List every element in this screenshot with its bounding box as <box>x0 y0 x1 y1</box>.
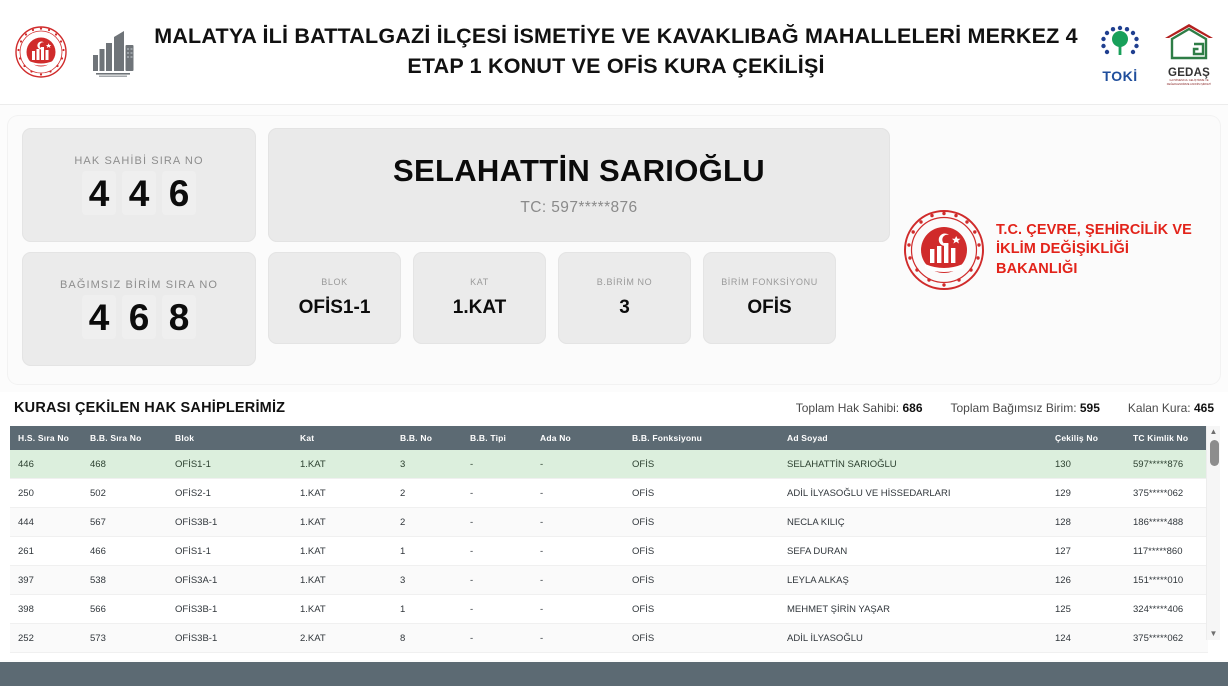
blok-label: BLOK <box>321 277 347 287</box>
cell-bb-fonksiyonu: OFİS <box>624 450 779 479</box>
cell-cekilis-no: 124 <box>1047 624 1125 653</box>
cell-tc-kimlik-no: 117*****860 <box>1125 537 1208 566</box>
cell-bb-tipi: - <box>462 450 532 479</box>
ministry-text-line1: T.C. ÇEVRE, ŞEHİRCİLİK VE <box>996 221 1214 240</box>
results-table-wrap: H.S. Sıra No B.B. Sıra No Blok Kat B.B. … <box>10 426 1218 653</box>
cell-bb-sira-no: 566 <box>82 595 167 624</box>
cell-kat: 1.KAT <box>292 450 392 479</box>
gedas-logo-icon: GEDAŞ GAYRİMENKUL GELİŞTİRME VE DEĞERLEN… <box>1160 22 1218 82</box>
col-ad-soyad[interactable]: Ad Soyad <box>779 426 1047 450</box>
cell-bb-no: 2 <box>392 508 462 537</box>
cell-ad-soyad: SELAHATTİN SARIOĞLU <box>779 450 1047 479</box>
cell-bb-no: 3 <box>392 566 462 595</box>
page-title: MALATYA İLİ BATTALGAZİ İLÇESİ İSMETİYE V… <box>138 22 1094 81</box>
cell-ad-soyad: MEHMET ŞİRİN YAŞAR <box>779 595 1047 624</box>
hak-sahibi-sira-no-card: HAK SAHİBİ SIRA NO 4 4 6 <box>22 128 256 242</box>
stat-kalan-kura: Kalan Kura: 465 <box>1128 401 1214 415</box>
digit: 4 <box>82 295 116 339</box>
cell-ada-no: - <box>532 624 624 653</box>
cell-ad-soyad: LEYLA ALKAŞ <box>779 566 1047 595</box>
cell-bb-sira-no: 538 <box>82 566 167 595</box>
cell-blok: OFİS2-1 <box>167 479 292 508</box>
blok-card: BLOK OFİS1-1 <box>268 252 401 344</box>
scroll-down-icon[interactable]: ▼ <box>1210 630 1218 638</box>
cell-ada-no: - <box>532 537 624 566</box>
stat-label: Toplam Bağımsız Birim: <box>951 401 1077 415</box>
cell-bb-tipi: - <box>462 566 532 595</box>
kentsel-donusum-logo-icon <box>90 25 138 79</box>
cell-hs-sira-no: 446 <box>10 450 82 479</box>
scrollbar-thumb[interactable] <box>1210 440 1219 466</box>
table-row[interactable]: 398566OFİS3B-11.KAT1--OFİSMEHMET ŞİRİN Y… <box>10 595 1208 624</box>
cell-bb-sira-no: 573 <box>82 624 167 653</box>
winner-left-column: HAK SAHİBİ SIRA NO 4 4 6 BAĞIMSIZ BİRİM … <box>8 116 256 384</box>
cell-ada-no: - <box>532 566 624 595</box>
cell-bb-tipi: - <box>462 508 532 537</box>
cell-cekilis-no: 128 <box>1047 508 1125 537</box>
digit: 6 <box>122 295 156 339</box>
results-section: KURASI ÇEKİLEN HAK SAHİPLERİMİZ Toplam H… <box>0 392 1228 660</box>
col-bb-fonksiyonu[interactable]: B.B. Fonksiyonu <box>624 426 779 450</box>
table-scrollbar[interactable]: ▲ ▼ <box>1206 426 1220 640</box>
cell-hs-sira-no: 444 <box>10 508 82 537</box>
cell-ada-no: - <box>532 450 624 479</box>
bbirim-no-card: B.BİRİM NO 3 <box>558 252 691 344</box>
cell-bb-tipi: - <box>462 595 532 624</box>
cell-kat: 1.KAT <box>292 479 392 508</box>
cell-hs-sira-no: 398 <box>10 595 82 624</box>
stat-toplam-hak-sahibi: Toplam Hak Sahibi: 686 <box>796 401 923 415</box>
birim-fonksiyonu-label: BİRİM FONKSİYONU <box>721 277 818 287</box>
stat-value: 686 <box>902 401 922 415</box>
stat-label: Kalan Kura: <box>1128 401 1191 415</box>
cell-tc-kimlik-no: 375*****062 <box>1125 624 1208 653</box>
digit: 4 <box>82 171 116 215</box>
cell-ad-soyad: NECLA KILIÇ <box>779 508 1047 537</box>
cell-kat: 1.KAT <box>292 595 392 624</box>
table-row[interactable]: 252573OFİS3B-12.KAT8--OFİSADİL İLYASOĞLU… <box>10 624 1208 653</box>
cell-ad-soyad: SEFA DURAN <box>779 537 1047 566</box>
cell-ada-no: - <box>532 508 624 537</box>
cell-cekilis-no: 129 <box>1047 479 1125 508</box>
stat-toplam-bagimsiz-birim: Toplam Bağımsız Birim: 595 <box>951 401 1100 415</box>
cell-ad-soyad: ADİL İLYASOĞLU <box>779 624 1047 653</box>
hak-sahibi-sira-no-label: HAK SAHİBİ SIRA NO <box>74 155 203 167</box>
col-ada-no[interactable]: Ada No <box>532 426 624 450</box>
col-kat[interactable]: Kat <box>292 426 392 450</box>
winner-panel: HAK SAHİBİ SIRA NO 4 4 6 BAĞIMSIZ BİRİM … <box>8 116 1220 384</box>
cell-bb-fonksiyonu: OFİS <box>624 595 779 624</box>
header-left-logos <box>0 25 138 79</box>
cell-hs-sira-no: 397 <box>10 566 82 595</box>
cell-tc-kimlik-no: 597*****876 <box>1125 450 1208 479</box>
table-row[interactable]: 444567OFİS3B-11.KAT2--OFİSNECLA KILIÇ128… <box>10 508 1208 537</box>
hak-sahibi-sira-no-digits: 4 4 6 <box>82 171 196 215</box>
col-bb-tipi[interactable]: B.B. Tipi <box>462 426 532 450</box>
cell-hs-sira-no: 261 <box>10 537 82 566</box>
table-row[interactable]: 250502OFİS2-11.KAT2--OFİSADİL İLYASOĞLU … <box>10 479 1208 508</box>
cell-tc-kimlik-no: 151*****010 <box>1125 566 1208 595</box>
stat-value: 595 <box>1080 401 1100 415</box>
results-header: KURASI ÇEKİLEN HAK SAHİPLERİMİZ Toplam H… <box>0 392 1228 426</box>
cell-bb-sira-no: 502 <box>82 479 167 508</box>
cell-kat: 1.KAT <box>292 508 392 537</box>
cell-bb-tipi: - <box>462 537 532 566</box>
cell-cekilis-no: 130 <box>1047 450 1125 479</box>
cell-cekilis-no: 127 <box>1047 537 1125 566</box>
gedas-subtitle: GAYRİMENKUL GELİŞTİRME VE DEĞERLENDİRME … <box>1160 79 1218 87</box>
col-bb-no[interactable]: B.B. No <box>392 426 462 450</box>
cell-tc-kimlik-no: 375*****062 <box>1125 479 1208 508</box>
table-row[interactable]: 446468OFİS1-11.KAT3--OFİSSELAHATTİN SARI… <box>10 450 1208 479</box>
kat-label: KAT <box>470 277 489 287</box>
digit: 8 <box>162 295 196 339</box>
cell-kat: 1.KAT <box>292 537 392 566</box>
ministry-branding: T.C. ÇEVRE, ŞEHİRCİLİK VE İKLİM DEĞİŞİKL… <box>902 116 1220 384</box>
col-tc-kimlik-no[interactable]: TC Kimlik No <box>1125 426 1208 450</box>
gedas-wordmark: GEDAŞ <box>1160 67 1218 79</box>
bagimsiz-birim-sira-no-digits: 4 6 8 <box>82 295 196 339</box>
results-stats: Toplam Hak Sahibi: 686 Toplam Bağımsız B… <box>796 401 1214 415</box>
cell-bb-fonksiyonu: OFİS <box>624 624 779 653</box>
ministry-seal-large-icon <box>902 208 986 292</box>
cell-bb-fonksiyonu: OFİS <box>624 566 779 595</box>
results-table-body: 446468OFİS1-11.KAT3--OFİSSELAHATTİN SARI… <box>10 450 1208 653</box>
results-table-head: H.S. Sıra No B.B. Sıra No Blok Kat B.B. … <box>10 426 1208 450</box>
kura-cekilis-screen: MALATYA İLİ BATTALGAZİ İLÇESİ İSMETİYE V… <box>0 0 1228 686</box>
cell-bb-fonksiyonu: OFİS <box>624 508 779 537</box>
cell-bb-no: 2 <box>392 479 462 508</box>
cell-kat: 2.KAT <box>292 624 392 653</box>
cell-tc-kimlik-no: 324*****406 <box>1125 595 1208 624</box>
cell-cekilis-no: 125 <box>1047 595 1125 624</box>
col-cekilis-no[interactable]: Çekiliş No <box>1047 426 1125 450</box>
cell-bb-no: 1 <box>392 537 462 566</box>
digit: 6 <box>162 171 196 215</box>
stat-value: 465 <box>1194 401 1214 415</box>
winner-name-card: SELAHATTİN SARIOĞLU TC: 597*****876 <box>268 128 890 242</box>
bagimsiz-birim-sira-no-label: BAĞIMSIZ BİRİM SIRA NO <box>60 279 218 291</box>
scroll-up-icon[interactable]: ▲ <box>1210 428 1218 436</box>
cell-bb-tipi: - <box>462 479 532 508</box>
cell-bb-no: 1 <box>392 595 462 624</box>
results-table: H.S. Sıra No B.B. Sıra No Blok Kat B.B. … <box>10 426 1208 653</box>
results-title: KURASI ÇEKİLEN HAK SAHİPLERİMİZ <box>14 400 285 416</box>
cell-tc-kimlik-no: 186*****488 <box>1125 508 1208 537</box>
cell-blok: OFİS1-1 <box>167 537 292 566</box>
cell-hs-sira-no: 252 <box>10 624 82 653</box>
winner-name: SELAHATTİN SARIOĞLU <box>393 153 765 189</box>
bottom-bar <box>0 662 1228 686</box>
cell-hs-sira-no: 250 <box>10 479 82 508</box>
cell-ad-soyad: ADİL İLYASOĞLU VE HİSSEDARLARI <box>779 479 1047 508</box>
cell-bb-no: 3 <box>392 450 462 479</box>
table-row[interactable]: 397538OFİS3A-11.KAT3--OFİSLEYLA ALKAŞ126… <box>10 566 1208 595</box>
cell-cekilis-no: 126 <box>1047 566 1125 595</box>
cell-bb-sira-no: 567 <box>82 508 167 537</box>
cell-blok: OFİS3B-1 <box>167 508 292 537</box>
cell-kat: 1.KAT <box>292 566 392 595</box>
cell-blok: OFİS3B-1 <box>167 595 292 624</box>
digit: 4 <box>122 171 156 215</box>
toki-logo-icon: TOKİ <box>1094 23 1146 81</box>
blok-value: OFİS1-1 <box>299 297 371 319</box>
bbirim-no-value: 3 <box>619 297 630 319</box>
cell-ada-no: - <box>532 479 624 508</box>
bagimsiz-birim-sira-no-card: BAĞIMSIZ BİRİM SIRA NO 4 6 8 <box>22 252 256 366</box>
kat-card: KAT 1.KAT <box>413 252 546 344</box>
cell-bb-no: 8 <box>392 624 462 653</box>
col-bb-sira-no[interactable]: B.B. Sıra No <box>82 426 167 450</box>
col-hs-sira-no[interactable]: H.S. Sıra No <box>10 426 82 450</box>
stat-label: Toplam Hak Sahibi: <box>796 401 899 415</box>
ministry-text-line2: İKLİM DEĞİŞİKLİĞİ BAKANLIĞI <box>996 240 1214 278</box>
cell-bb-tipi: - <box>462 624 532 653</box>
winner-tc: TC: 597*****876 <box>520 199 637 217</box>
bbirim-no-label: B.BİRİM NO <box>597 277 653 287</box>
birim-fonksiyonu-card: BİRİM FONKSİYONU OFİS <box>703 252 836 344</box>
cell-bb-sira-no: 468 <box>82 450 167 479</box>
table-header-row: H.S. Sıra No B.B. Sıra No Blok Kat B.B. … <box>10 426 1208 450</box>
app-header: MALATYA İLİ BATTALGAZİ İLÇESİ İSMETİYE V… <box>0 0 1228 105</box>
cell-bb-fonksiyonu: OFİS <box>624 479 779 508</box>
col-blok[interactable]: Blok <box>167 426 292 450</box>
table-row[interactable]: 261466OFİS1-11.KAT1--OFİSSEFA DURAN12711… <box>10 537 1208 566</box>
ministry-seal-icon <box>14 25 68 79</box>
cell-bb-sira-no: 466 <box>82 537 167 566</box>
winner-center-column: SELAHATTİN SARIOĞLU TC: 597*****876 BLOK… <box>256 116 902 384</box>
toki-wordmark: TOKİ <box>1094 68 1146 84</box>
birim-fonksiyonu-value: OFİS <box>747 297 791 319</box>
kat-value: 1.KAT <box>453 297 506 319</box>
cell-blok: OFİS3A-1 <box>167 566 292 595</box>
winner-field-cards: BLOK OFİS1-1 KAT 1.KAT B.BİRİM NO 3 BİRİ… <box>268 252 902 344</box>
ministry-text: T.C. ÇEVRE, ŞEHİRCİLİK VE İKLİM DEĞİŞİKL… <box>996 221 1214 278</box>
header-right-logos: TOKİ GEDAŞ GAYRİMENKUL GELİŞTİRME VE DEĞ… <box>1094 22 1228 82</box>
cell-ada-no: - <box>532 595 624 624</box>
cell-bb-fonksiyonu: OFİS <box>624 537 779 566</box>
cell-blok: OFİS3B-1 <box>167 624 292 653</box>
cell-blok: OFİS1-1 <box>167 450 292 479</box>
